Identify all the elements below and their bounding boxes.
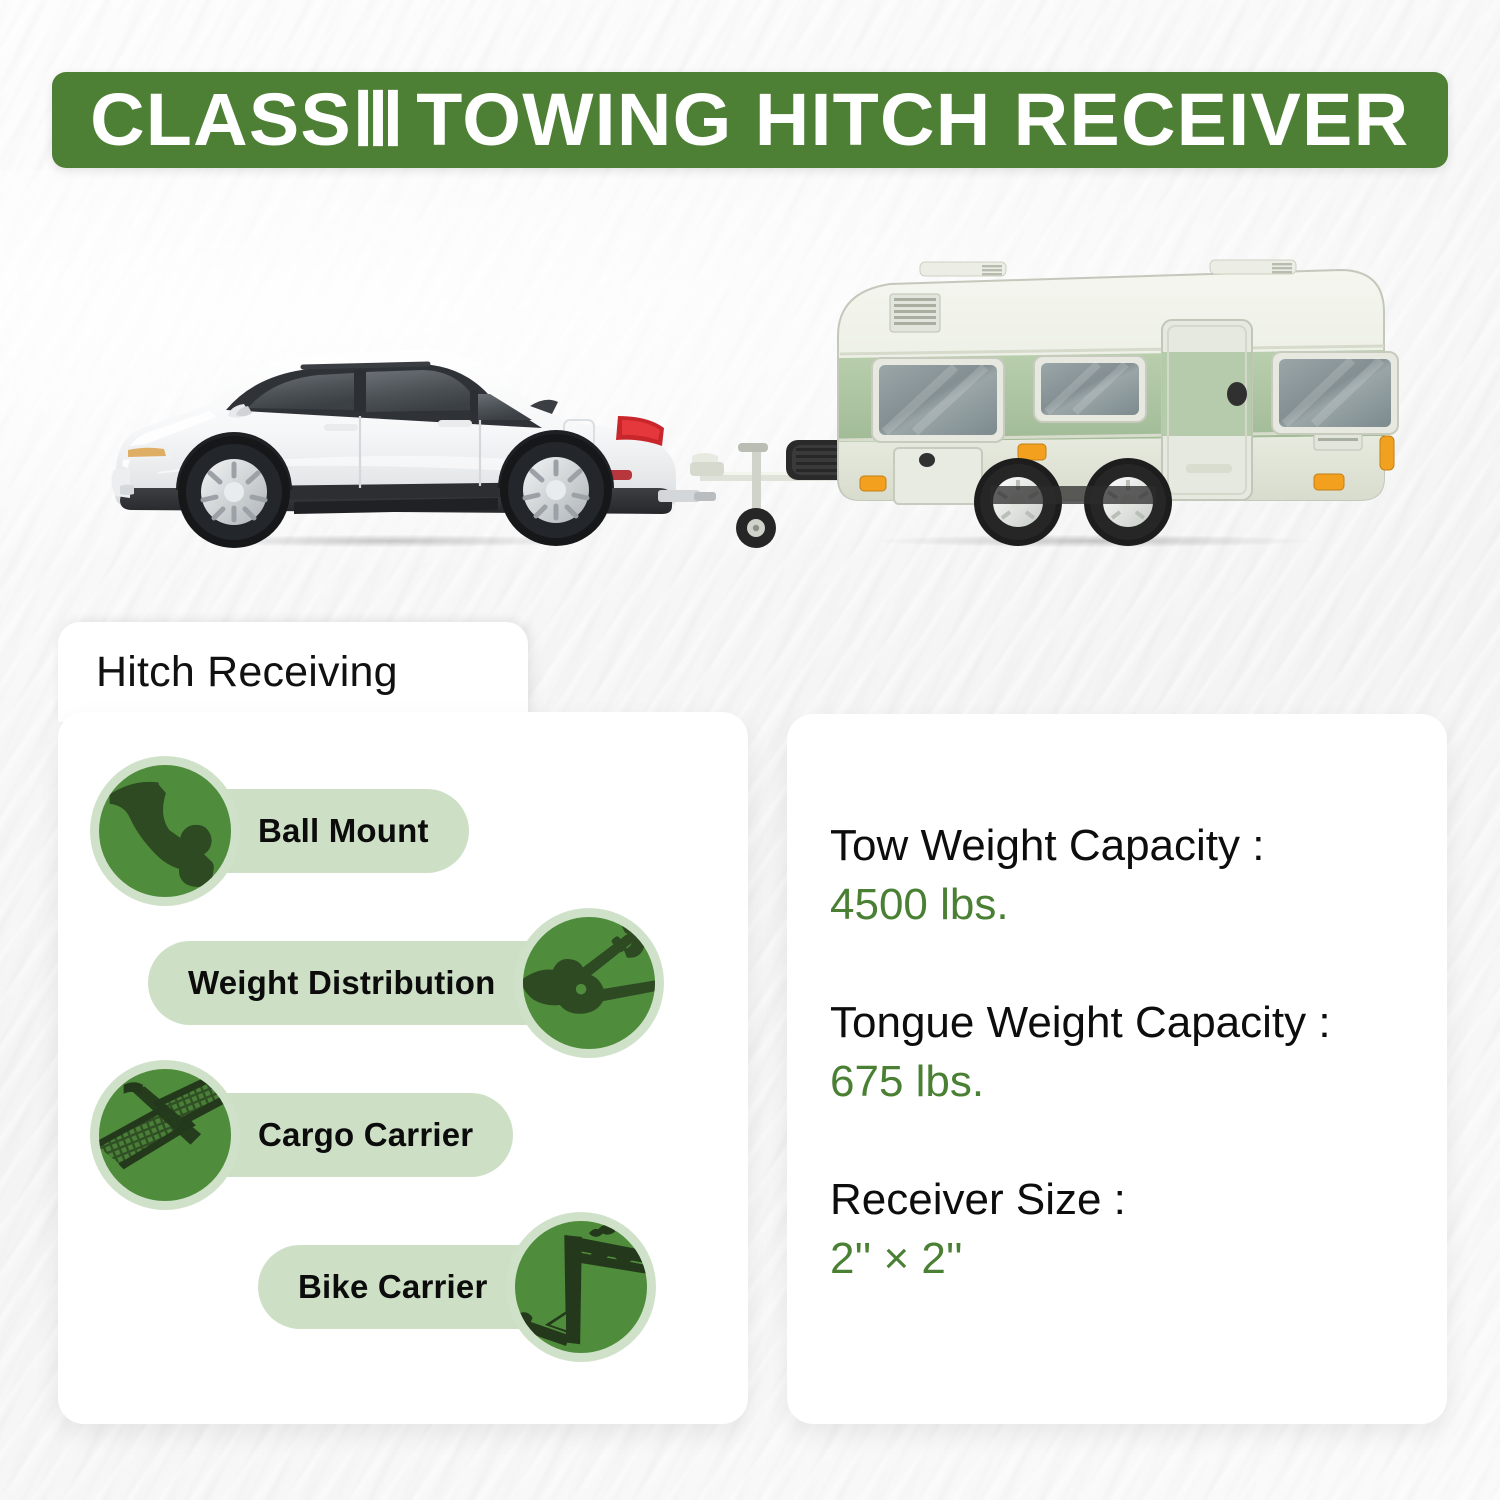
suv-front-wheel xyxy=(178,436,290,548)
spec-block-receiver-size: Receiver Size : 2'' × 2'' xyxy=(830,1172,1420,1287)
trailer-window-rear xyxy=(1272,352,1398,434)
rear-side-light xyxy=(1380,436,1394,470)
feature-label: Weight Distribution xyxy=(188,964,496,1002)
travel-trailer-graphic xyxy=(690,240,1410,560)
spec-label: Tongue Weight Capacity : xyxy=(830,995,1420,1050)
hitch-receiving-tab[interactable]: Hitch Receiving xyxy=(58,622,528,722)
spec-block-tow-weight: Tow Weight Capacity : 4500 lbs. xyxy=(830,818,1420,933)
bike-carrier-icon xyxy=(506,1212,656,1362)
feature-row[interactable]: Cargo Carrier xyxy=(90,1060,513,1210)
feature-row[interactable]: Ball Mount xyxy=(90,756,469,906)
ball-mount-icon xyxy=(90,756,240,906)
feature-row[interactable]: Bike Carrier xyxy=(258,1212,656,1362)
spec-label: Tow Weight Capacity : xyxy=(830,818,1420,873)
suv-rear-wheel xyxy=(500,434,612,546)
feature-label: Bike Carrier xyxy=(298,1268,488,1306)
trailer-window-mid xyxy=(1034,356,1146,422)
spec-label: Receiver Size : xyxy=(830,1172,1420,1227)
hitch-receiving-tab-label: Hitch Receiving xyxy=(58,648,398,697)
feature-row[interactable]: Weight Distribution xyxy=(148,908,664,1058)
trailer-door xyxy=(1162,320,1252,500)
infographic-canvas: CLASSⅢTOWING HITCH RECEIVER xyxy=(0,0,1500,1500)
specifications-list: Tow Weight Capacity : 4500 lbs. Tongue W… xyxy=(830,818,1420,1287)
cargo-carrier-icon xyxy=(90,1060,240,1210)
marker-light-mid xyxy=(1018,444,1046,460)
door-handle xyxy=(1227,382,1247,406)
storage-hatch xyxy=(894,448,982,504)
feature-pill: Ball Mount xyxy=(206,789,469,873)
title-roman-numeral-three: Ⅲ xyxy=(352,78,416,161)
feature-pill: Cargo Carrier xyxy=(206,1093,513,1177)
title-banner: CLASSⅢTOWING HITCH RECEIVER xyxy=(52,72,1448,168)
side-vent-front xyxy=(890,294,940,332)
marker-light-front xyxy=(860,476,886,491)
feature-label: Cargo Carrier xyxy=(258,1116,473,1154)
spec-block-tongue-weight: Tongue Weight Capacity : 675 lbs. xyxy=(830,995,1420,1110)
roof-vent xyxy=(920,262,1006,276)
spec-value: 2'' × 2'' xyxy=(830,1231,1420,1286)
page-title: CLASSⅢTOWING HITCH RECEIVER xyxy=(90,77,1409,163)
feature-pill: Bike Carrier xyxy=(258,1245,540,1329)
spec-value: 675 lbs. xyxy=(830,1054,1420,1109)
feature-pill: Weight Distribution xyxy=(148,941,548,1025)
marker-light-rear xyxy=(1314,474,1344,490)
title-product-text: TOWING HITCH RECEIVER xyxy=(417,78,1410,161)
title-class-text: CLASS xyxy=(90,78,352,161)
feature-label: Ball Mount xyxy=(258,812,429,850)
roof-vent-2 xyxy=(1210,260,1296,274)
trailer-window-front xyxy=(872,358,1004,442)
hero-towing-illustration xyxy=(0,210,1500,610)
suv-graphic xyxy=(98,320,718,560)
spec-value: 4500 lbs. xyxy=(830,877,1420,932)
weight-distribution-icon xyxy=(514,908,664,1058)
